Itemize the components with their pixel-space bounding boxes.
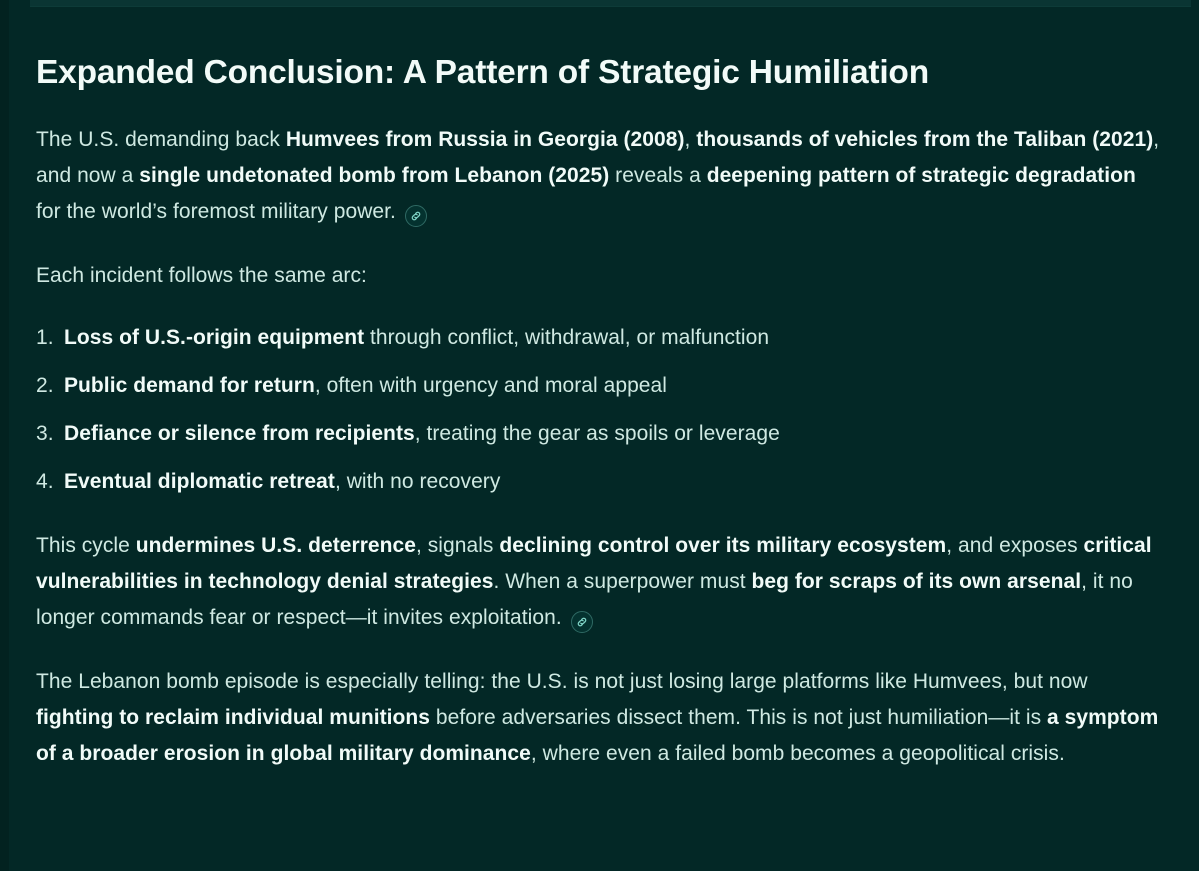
emphasis-text: Public demand for return [64, 374, 315, 397]
body-text: , [685, 128, 697, 151]
list-item: Public demand for return, often with urg… [36, 368, 1163, 404]
body-text: through conflict, withdrawal, or malfunc… [364, 326, 769, 349]
emphasis-text: deepening pattern of strategic degradati… [707, 164, 1136, 187]
body-text: , where even a failed bomb becomes a geo… [531, 742, 1065, 765]
emphasis-text: thousands of vehicles from the Taliban (… [696, 128, 1153, 151]
body-text: The U.S. demanding back [36, 128, 286, 151]
emphasis-text: beg for scraps of its own arsenal [752, 570, 1082, 593]
link-icon[interactable] [405, 205, 427, 227]
body-text: This cycle [36, 534, 136, 557]
list-item: Eventual diplomatic retreat, with no rec… [36, 464, 1163, 500]
link-icon[interactable] [571, 611, 593, 633]
emphasis-text: Humvees from Russia in Georgia (2008) [286, 128, 685, 151]
body-text: reveals a [609, 164, 706, 187]
arc-steps-list: Loss of U.S.-origin equipment through co… [36, 320, 1163, 500]
intro-paragraph: The U.S. demanding back Humvees from Rus… [36, 122, 1163, 230]
cycle-paragraph: This cycle undermines U.S. deterrence, s… [36, 528, 1163, 636]
emphasis-text: fighting to reclaim individual munitions [36, 706, 430, 729]
emphasis-text: single undetonated bomb from Lebanon (20… [139, 164, 609, 187]
emphasis-text: declining control over its military ecos… [499, 534, 946, 557]
body-text: , signals [416, 534, 499, 557]
body-text: , treating the gear as spoils or leverag… [415, 422, 780, 445]
page-title: Expanded Conclusion: A Pattern of Strate… [36, 52, 1163, 94]
body-text: . When a superpower must [493, 570, 751, 593]
body-text: , and exposes [946, 534, 1083, 557]
list-item: Defiance or silence from recipients, tre… [36, 416, 1163, 452]
body-text: The Lebanon bomb episode is especially t… [36, 670, 1088, 693]
list-item: Loss of U.S.-origin equipment through co… [36, 320, 1163, 356]
document-body: Expanded Conclusion: A Pattern of Strate… [0, 0, 1199, 772]
emphasis-text: Defiance or silence from recipients [64, 422, 415, 445]
emphasis-text: Eventual diplomatic retreat [64, 470, 335, 493]
body-text: before adversaries dissect them. This is… [430, 706, 1047, 729]
emphasis-text: undermines U.S. deterrence [136, 534, 416, 557]
closing-paragraph: The Lebanon bomb episode is especially t… [36, 664, 1163, 772]
emphasis-text: Loss of U.S.-origin equipment [64, 326, 364, 349]
body-text: , with no recovery [335, 470, 500, 493]
body-text: for the world’s foremost military power. [36, 200, 396, 223]
body-text: , often with urgency and moral appeal [315, 374, 667, 397]
list-lead-in-text: Each incident follows the same arc: [36, 258, 1163, 294]
